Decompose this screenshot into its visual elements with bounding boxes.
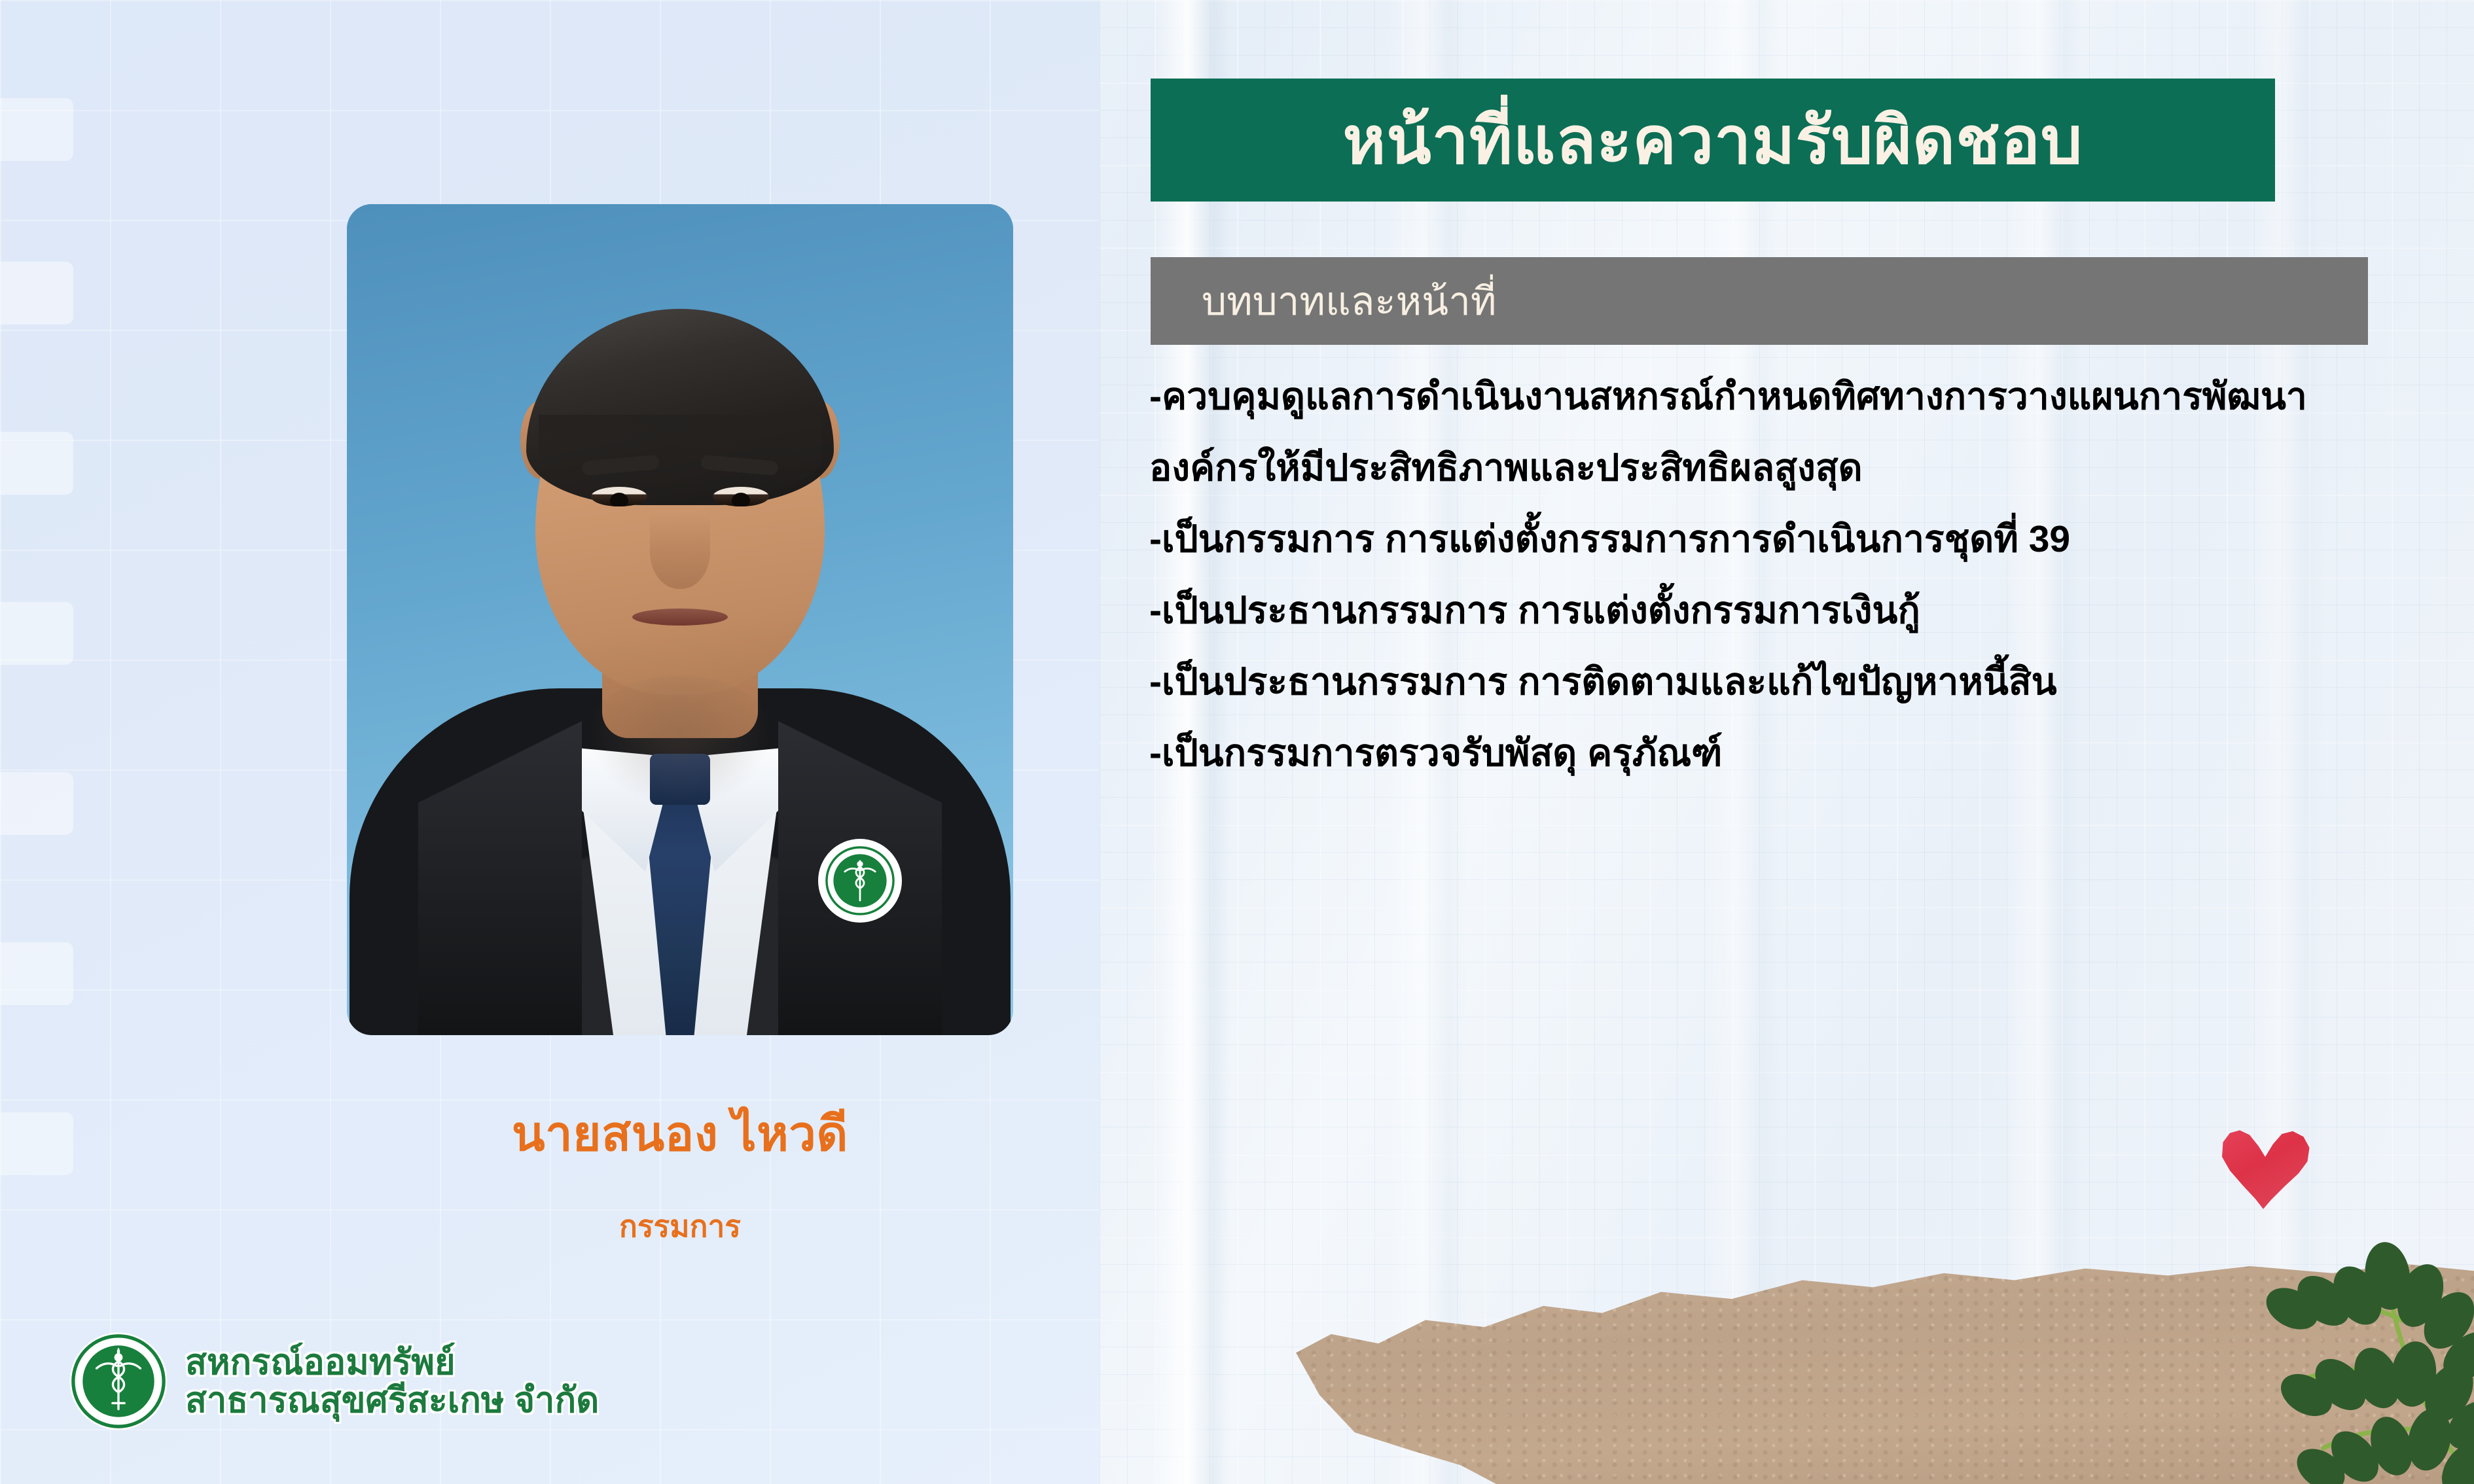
panel-tab [0, 432, 73, 495]
list-item: องค์กรให้มีประสิทธิภาพและประสิทธิผลสูงสุ… [1149, 450, 2432, 487]
chin-shading [582, 675, 778, 813]
logo-line-2: สาธารณสุขศรีสะเกษ จำกัด [185, 1381, 599, 1419]
eye-left [591, 487, 647, 506]
person-role: กรรมการ [347, 1203, 1013, 1250]
fern-leaf-icon [2127, 1104, 2474, 1484]
panel-tab [0, 602, 73, 665]
logo-line-1: สหกรณ์ออมทรัพย์ [185, 1343, 599, 1381]
panel-tab [0, 1112, 73, 1175]
person-name: นายสนอง ไหวดี [347, 1106, 1013, 1161]
panel-tab [0, 262, 73, 325]
mouth [632, 609, 728, 626]
cooperative-badge-icon [818, 839, 902, 923]
panel-tab [0, 772, 73, 835]
portrait-photo [347, 204, 1013, 1035]
panel-tab [0, 98, 73, 161]
panel-tab [0, 942, 73, 1005]
page-title: หน้าที่และความรับผิดชอบ [1342, 88, 2083, 192]
logo-text: สหกรณ์ออมทรัพย์ สาธารณสุขศรีสะเกษ จำกัด [185, 1343, 599, 1420]
responsibility-list: -ควบคุมดูแลการดำเนินงานสหกรณ์กำหนดทิศทาง… [1149, 378, 2432, 806]
organization-logo: สหกรณ์ออมทรัพย์ สาธารณสุขศรีสะเกษ จำกัด [69, 1332, 599, 1431]
eye-right [713, 487, 769, 506]
list-item: -เป็นกรรมการตรวจรับพัสดุ ครุภัณฑ์ [1149, 735, 2432, 772]
section-heading: บทบาทและหน้าที่ [1151, 270, 1496, 332]
caduceus-emblem-icon [69, 1332, 168, 1431]
list-item: -ควบคุมดูแลการดำเนินงานสหกรณ์กำหนดทิศทาง… [1149, 378, 2432, 415]
nose [650, 512, 710, 589]
slide-root: นายสนอง ไหวดี กรรมการ สหกรณ์ออมทรัพย์ [0, 0, 2474, 1484]
list-item: -เป็นกรรมการ การแต่งตั้งกรรมการการดำเนิน… [1149, 521, 2432, 558]
list-item: -เป็นประธานกรรมการ การติดตามและแก้ไขปัญห… [1149, 663, 2432, 701]
title-banner: หน้าที่และความรับผิดชอบ [1151, 79, 2275, 202]
list-item: -เป็นประธานกรรมการ การแต่งตั้งกรรมการเงิ… [1149, 592, 2432, 629]
section-heading-bar: บทบาทและหน้าที่ [1151, 257, 2368, 345]
